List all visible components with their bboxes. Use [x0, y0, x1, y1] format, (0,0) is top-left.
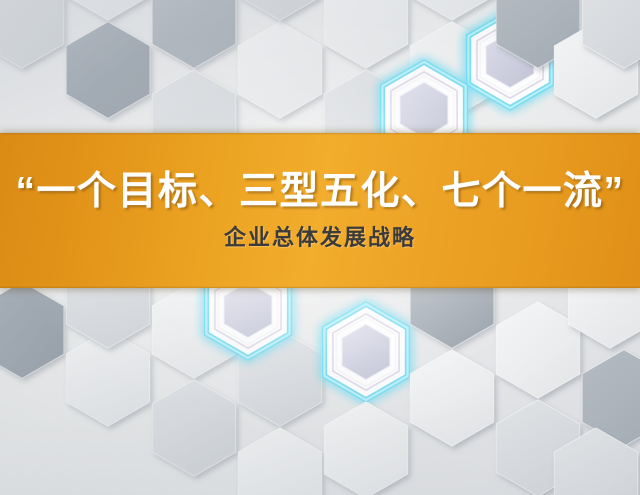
banner-top-edge — [0, 133, 640, 135]
banner-title: “一个目标、三型五化、七个一流” — [15, 172, 624, 211]
slide-canvas: “一个目标、三型五化、七个一流” 企业总体发展战略 — [0, 0, 640, 495]
banner-subtitle: 企业总体发展战略 — [224, 227, 416, 249]
banner-bottom-edge — [0, 286, 640, 288]
title-banner: “一个目标、三型五化、七个一流” 企业总体发展战略 — [0, 133, 640, 288]
hexagon-glow — [324, 304, 407, 400]
